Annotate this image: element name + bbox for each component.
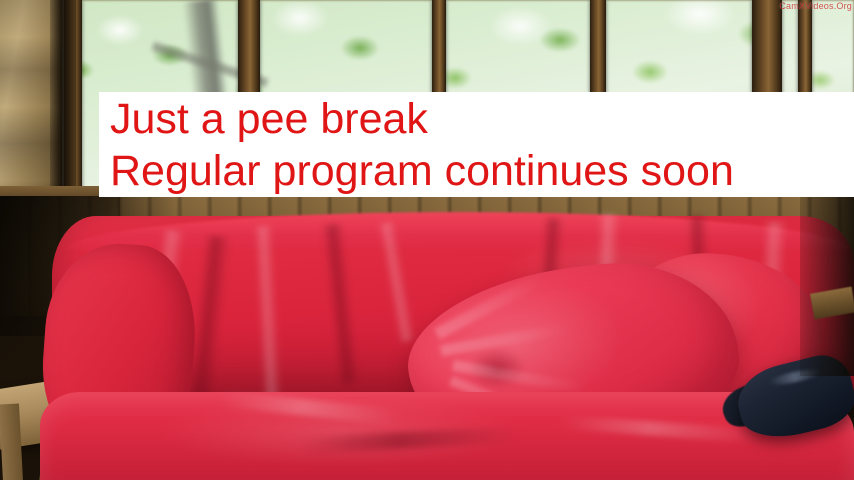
bench-leg-left <box>0 404 23 480</box>
video-frame: Just a pee break Regular program continu… <box>0 0 854 480</box>
caption-line-1: Just a pee break <box>99 92 854 145</box>
scene-photograph <box>0 0 854 480</box>
caption-line-2: Regular program continues soon <box>99 145 854 197</box>
site-watermark: CamXVideos.Org <box>779 1 852 11</box>
right-wall-shadow <box>800 196 854 376</box>
wall-shadow <box>50 0 76 205</box>
caption-banner: Just a pee break Regular program continu… <box>99 92 854 197</box>
